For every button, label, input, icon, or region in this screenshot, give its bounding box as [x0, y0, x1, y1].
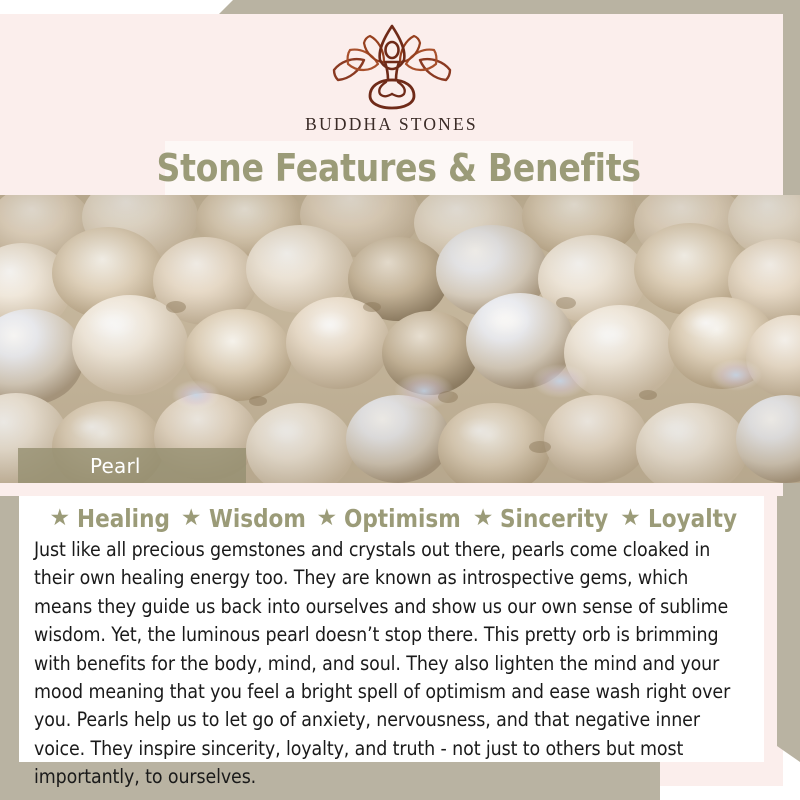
- star-icon: ★: [473, 506, 494, 529]
- brand-logo: BUDDHA STONES: [0, 22, 783, 135]
- benefit-keyword-label: Optimism: [344, 506, 461, 531]
- benefit-keyword-label: Loyalty: [648, 506, 737, 531]
- photo-bottom-seam: [0, 483, 783, 496]
- benefit-keyword: ★ Loyalty: [613, 506, 740, 531]
- star-icon: ★: [316, 506, 337, 529]
- benefit-keyword-label: Healing: [77, 506, 170, 531]
- poster-header: BUDDHA STONES Stone Features & Benefits: [0, 14, 783, 195]
- benefit-keyword: ★ Optimism: [309, 506, 465, 531]
- page-title: Stone Features & Benefits: [157, 149, 641, 187]
- stone-name-label: Pearl: [90, 454, 141, 478]
- content-panel: ★ Healing ★ Wisdom ★ Optimism ★ Sincerit…: [19, 496, 764, 762]
- pearl-photo-image: [0, 195, 800, 483]
- benefit-keyword-row: ★ Healing ★ Wisdom ★ Optimism ★ Sincerit…: [19, 496, 764, 534]
- brand-name: BUDDHA STONES: [305, 114, 478, 135]
- pearl-photo: [0, 195, 800, 483]
- benefit-keyword: ★ Wisdom: [174, 506, 310, 531]
- description-paragraph: Just like all precious gemstones and cry…: [19, 534, 764, 792]
- stone-name-caption: Pearl: [18, 448, 246, 484]
- star-icon: ★: [181, 506, 202, 529]
- benefit-keyword-label: Wisdom: [209, 506, 306, 531]
- lotus-meditation-icon: [326, 22, 458, 112]
- star-icon: ★: [50, 506, 71, 529]
- star-icon: ★: [620, 506, 641, 529]
- benefit-keyword-label: Sincerity: [500, 506, 608, 531]
- title-plaque: Stone Features & Benefits: [165, 141, 633, 195]
- benefit-keyword: ★ Healing: [43, 506, 174, 531]
- infographic-poster: BUDDHA STONES Stone Features & Benefits: [0, 0, 800, 800]
- benefit-keyword: ★ Sincerity: [466, 506, 613, 531]
